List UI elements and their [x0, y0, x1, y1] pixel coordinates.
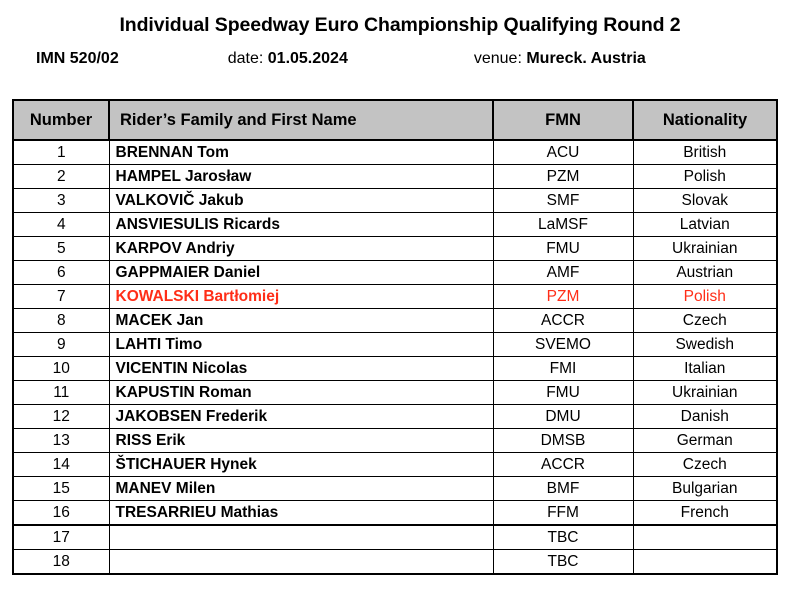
cell-rider-fmn: ACCR — [493, 309, 633, 333]
cell-rider-name: RISS Erik — [109, 429, 493, 453]
cell-rider-name: HAMPEL Jarosław — [109, 165, 493, 189]
table-row[interactable]: 14ŠTICHAUER HynekACCRCzech — [13, 453, 777, 477]
cell-rider-name: LAHTI Timo — [109, 333, 493, 357]
cell-rider-number: 6 — [13, 261, 109, 285]
table-header: Number Rider’s Family and First Name FMN… — [13, 100, 777, 140]
table-row[interactable]: 17TBC — [13, 525, 777, 550]
cell-rider-number: 10 — [13, 357, 109, 381]
cell-rider-nationality: Latvian — [633, 213, 777, 237]
table-row[interactable]: 1BRENNAN TomACUBritish — [13, 140, 777, 165]
riders-table: Number Rider’s Family and First Name FMN… — [12, 99, 778, 575]
cell-rider-name: GAPPMAIER Daniel — [109, 261, 493, 285]
cell-rider-name: KAPUSTIN Roman — [109, 381, 493, 405]
cell-rider-nationality: Danish — [633, 405, 777, 429]
document-page: Individual Speedway Euro Championship Qu… — [0, 0, 800, 592]
cell-rider-nationality: British — [633, 140, 777, 165]
event-venue-label: venue: — [474, 50, 522, 67]
table-row[interactable]: 13RISS ErikDMSBGerman — [13, 429, 777, 453]
table-row[interactable]: 4ANSVIESULIS RicardsLaMSFLatvian — [13, 213, 777, 237]
cell-rider-fmn: LaMSF — [493, 213, 633, 237]
cell-rider-fmn: DMU — [493, 405, 633, 429]
cell-rider-number: 16 — [13, 501, 109, 526]
cell-rider-name: MACEK Jan — [109, 309, 493, 333]
cell-rider-nationality — [633, 525, 777, 550]
cell-rider-name: ANSVIESULIS Ricards — [109, 213, 493, 237]
event-venue: venue: Mureck. Austria — [474, 49, 646, 69]
event-date: date: 01.05.2024 — [228, 49, 348, 69]
table-body: 1BRENNAN TomACUBritish2HAMPEL JarosławPZ… — [13, 140, 777, 574]
cell-rider-nationality: Czech — [633, 309, 777, 333]
table-row[interactable]: 6GAPPMAIER DanielAMFAustrian — [13, 261, 777, 285]
column-header-nationality: Nationality — [633, 100, 777, 140]
cell-rider-name: MANEV Milen — [109, 477, 493, 501]
cell-rider-number: 17 — [13, 525, 109, 550]
cell-rider-nationality: Polish — [633, 285, 777, 309]
event-date-value: 01.05.2024 — [268, 50, 348, 67]
cell-rider-nationality: Italian — [633, 357, 777, 381]
page-title: Individual Speedway Euro Championship Qu… — [0, 0, 800, 37]
cell-rider-number: 7 — [13, 285, 109, 309]
table-row[interactable]: 11KAPUSTIN RomanFMUUkrainian — [13, 381, 777, 405]
cell-rider-nationality: Czech — [633, 453, 777, 477]
cell-rider-number: 11 — [13, 381, 109, 405]
cell-rider-name: VALKOVIČ Jakub — [109, 189, 493, 213]
cell-rider-nationality: Swedish — [633, 333, 777, 357]
cell-rider-fmn: TBC — [493, 525, 633, 550]
imn-code: IMN 520/02 — [36, 49, 119, 69]
cell-rider-name: JAKOBSEN Frederik — [109, 405, 493, 429]
table-row[interactable]: 8MACEK JanACCRCzech — [13, 309, 777, 333]
cell-rider-name: KARPOV Andriy — [109, 237, 493, 261]
cell-rider-nationality — [633, 550, 777, 575]
cell-rider-name: KOWALSKI Bartłomiej — [109, 285, 493, 309]
cell-rider-name: VICENTIN Nicolas — [109, 357, 493, 381]
event-date-label: date: — [228, 50, 264, 67]
cell-rider-nationality: Bulgarian — [633, 477, 777, 501]
document-meta-row: IMN 520/02 date: 01.05.2024 venue: Murec… — [0, 49, 800, 69]
column-header-fmn: FMN — [493, 100, 633, 140]
table-row[interactable]: 12JAKOBSEN FrederikDMUDanish — [13, 405, 777, 429]
cell-rider-number: 15 — [13, 477, 109, 501]
cell-rider-fmn: ACCR — [493, 453, 633, 477]
table-row[interactable]: 16TRESARRIEU MathiasFFMFrench — [13, 501, 777, 526]
cell-rider-fmn: BMF — [493, 477, 633, 501]
cell-rider-name: BRENNAN Tom — [109, 140, 493, 165]
cell-rider-fmn: PZM — [493, 165, 633, 189]
table-row[interactable]: 15MANEV MilenBMFBulgarian — [13, 477, 777, 501]
cell-rider-fmn: TBC — [493, 550, 633, 575]
cell-rider-name — [109, 550, 493, 575]
cell-rider-number: 3 — [13, 189, 109, 213]
cell-rider-fmn: DMSB — [493, 429, 633, 453]
cell-rider-nationality: German — [633, 429, 777, 453]
cell-rider-fmn: FFM — [493, 501, 633, 526]
table-row[interactable]: 3VALKOVIČ JakubSMFSlovak — [13, 189, 777, 213]
event-venue-value: Mureck. Austria — [526, 50, 645, 67]
cell-rider-number: 4 — [13, 213, 109, 237]
cell-rider-nationality: Polish — [633, 165, 777, 189]
cell-rider-fmn: FMI — [493, 357, 633, 381]
table-row[interactable]: 9LAHTI TimoSVEMOSwedish — [13, 333, 777, 357]
cell-rider-name: ŠTICHAUER Hynek — [109, 453, 493, 477]
cell-rider-number: 14 — [13, 453, 109, 477]
cell-rider-name: TRESARRIEU Mathias — [109, 501, 493, 526]
cell-rider-fmn: PZM — [493, 285, 633, 309]
riders-table-container: Number Rider’s Family and First Name FMN… — [12, 99, 776, 575]
cell-rider-fmn: AMF — [493, 261, 633, 285]
cell-rider-nationality: French — [633, 501, 777, 526]
table-header-row: Number Rider’s Family and First Name FMN… — [13, 100, 777, 140]
table-row[interactable]: 10VICENTIN NicolasFMIItalian — [13, 357, 777, 381]
cell-rider-fmn: SMF — [493, 189, 633, 213]
table-row[interactable]: 2HAMPEL JarosławPZMPolish — [13, 165, 777, 189]
cell-rider-nationality: Austrian — [633, 261, 777, 285]
cell-rider-fmn: FMU — [493, 381, 633, 405]
cell-rider-number: 13 — [13, 429, 109, 453]
cell-rider-number: 8 — [13, 309, 109, 333]
table-row[interactable]: 7KOWALSKI BartłomiejPZMPolish — [13, 285, 777, 309]
column-header-number: Number — [13, 100, 109, 140]
table-row[interactable]: 18TBC — [13, 550, 777, 575]
cell-rider-nationality: Slovak — [633, 189, 777, 213]
cell-rider-number: 5 — [13, 237, 109, 261]
table-row[interactable]: 5KARPOV AndriyFMUUkrainian — [13, 237, 777, 261]
cell-rider-number: 9 — [13, 333, 109, 357]
cell-rider-nationality: Ukrainian — [633, 237, 777, 261]
cell-rider-number: 18 — [13, 550, 109, 575]
cell-rider-nationality: Ukrainian — [633, 381, 777, 405]
cell-rider-number: 12 — [13, 405, 109, 429]
column-header-name: Rider’s Family and First Name — [109, 100, 493, 140]
cell-rider-fmn: ACU — [493, 140, 633, 165]
cell-rider-name — [109, 525, 493, 550]
cell-rider-number: 2 — [13, 165, 109, 189]
cell-rider-fmn: FMU — [493, 237, 633, 261]
cell-rider-number: 1 — [13, 140, 109, 165]
cell-rider-fmn: SVEMO — [493, 333, 633, 357]
